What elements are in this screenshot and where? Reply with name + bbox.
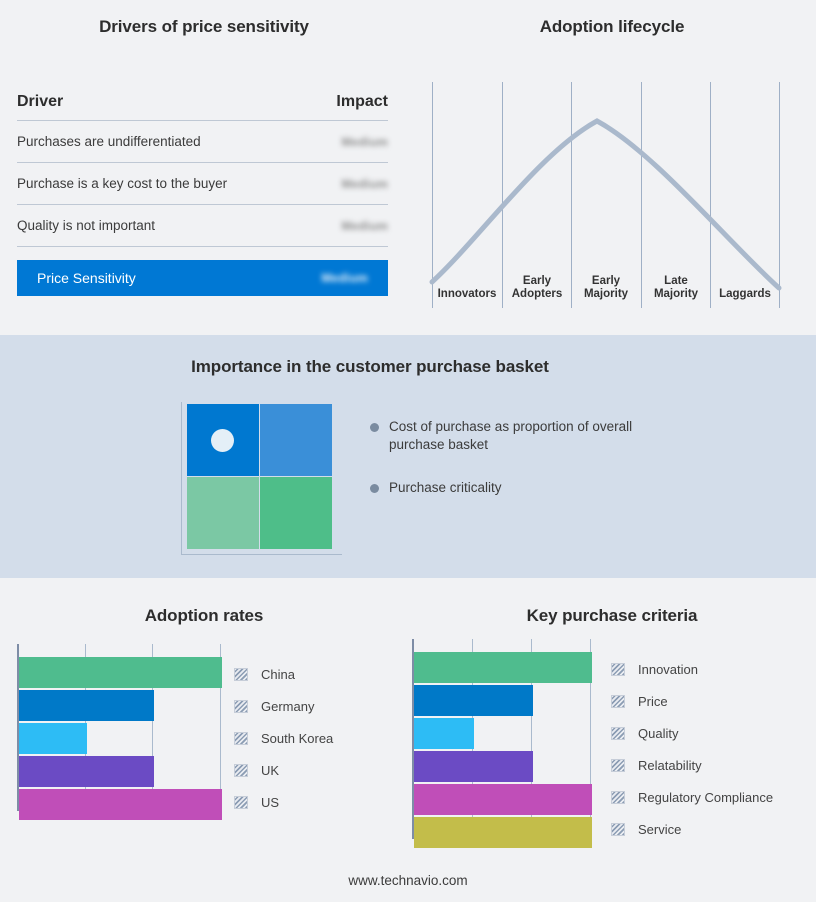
quadrant-y-axis [181,402,182,555]
legend-row: Quality [611,717,773,749]
legend-label: Regulatory Compliance [638,790,773,805]
hatch-swatch-icon [611,695,625,708]
basket-legend-item: Purchase criticality [370,479,502,497]
quadrant-bottom-right [260,477,332,549]
legend-bullet-icon [370,484,379,493]
bar-service [414,817,592,848]
summary-label: Price Sensitivity [37,270,136,286]
bar-china [19,657,222,688]
key-purchase-criteria-plot [412,639,592,839]
legend-label: Germany [261,699,314,714]
bar-regulatory-compliance [414,784,592,815]
hatch-swatch-icon [234,764,248,777]
key-purchase-criteria-title: Key purchase criteria [408,606,816,626]
legend-row: Innovation [611,653,773,685]
driver-label: Purchase is a key cost to the buyer [17,176,227,191]
quadrant-top-right [260,404,332,476]
table-row: Purchases are undifferentiated Medium [17,121,388,163]
drivers-table: Driver Impact Purchases are undifferenti… [17,93,388,296]
bar-relatability [414,751,533,782]
legend-label: China [261,667,295,682]
column-header-impact: Impact [336,93,388,111]
adoption-rates-plot [17,644,222,811]
bar-price [414,685,533,716]
segment-line-1: Late [641,275,711,288]
hatch-swatch-icon [611,823,625,836]
legend-label: Service [638,822,681,837]
impact-value: Medium [341,135,388,149]
table-header-row: Driver Impact [17,93,388,121]
bar-germany [19,690,154,721]
quadrant-chart [187,404,332,549]
legend-bullet-icon [370,423,379,432]
legend-label: US [261,795,279,810]
segment-line-2: Majority [571,288,641,301]
quadrant-top-left [187,404,259,476]
legend-label: UK [261,763,279,778]
segment-line-2: Innovators [432,288,502,301]
key-purchase-criteria-legend: Innovation Price Quality Relatability Re… [611,653,773,845]
table-row: Purchase is a key cost to the buyer Medi… [17,163,388,205]
legend-label: Price [638,694,668,709]
infographic-page: Drivers of price sensitivity Driver Impa… [0,0,816,902]
adoption-rates-legend: China Germany South Korea UK US [234,658,333,818]
segment-line-2: Adopters [502,288,572,301]
legend-row: US [234,786,333,818]
legend-label: Relatability [638,758,702,773]
hatch-swatch-icon [611,727,625,740]
bar-us [19,789,222,820]
drivers-panel-title: Drivers of price sensitivity [0,17,408,37]
hatch-swatch-icon [611,791,625,804]
segment-line-1: Early [502,275,572,288]
hatch-swatch-icon [611,663,625,676]
legend-label: Cost of purchase as proportion of overal… [389,418,659,454]
lifecycle-segment-early-adopters: Early Adopters [502,275,572,301]
legend-label: Purchase criticality [389,479,502,497]
price-sensitivity-summary-row: Price Sensitivity Medium [17,260,388,296]
legend-label: Innovation [638,662,698,677]
adoption-bell-curve [432,121,779,288]
legend-row: Regulatory Compliance [611,781,773,813]
adoption-rates-title: Adoption rates [0,606,408,626]
legend-row: UK [234,754,333,786]
legend-row: Relatability [611,749,773,781]
quadrant-bottom-left [187,477,259,549]
hatch-swatch-icon [234,668,248,681]
impact-value: Medium [341,219,388,233]
driver-label: Purchases are undifferentiated [17,134,201,149]
table-row: Quality is not important Medium [17,205,388,247]
quadrant-position-marker [211,429,234,452]
hatch-swatch-icon [234,732,248,745]
hatch-swatch-icon [611,759,625,772]
legend-label: South Korea [261,731,333,746]
adoption-rates-panel: Adoption rates China Germany Sout [0,578,408,902]
lifecycle-segment-late-majority: Late Majority [641,275,711,301]
key-purchase-criteria-panel: Key purchase criteria Innovation Price [408,578,816,902]
lifecycle-segment-innovators: Innovators [432,288,502,301]
bar-quality [414,718,474,749]
segment-line-2: Laggards [710,288,780,301]
hatch-swatch-icon [234,700,248,713]
driver-label: Quality is not important [17,218,155,233]
column-header-driver: Driver [17,93,63,111]
drivers-panel: Drivers of price sensitivity Driver Impa… [0,0,408,335]
segment-line-2: Majority [641,288,711,301]
summary-impact-value: Medium [321,271,368,285]
footer-url: www.technavio.com [0,873,816,888]
purchase-basket-panel: Importance in the customer purchase bask… [0,335,816,578]
legend-row: Germany [234,690,333,722]
hatch-swatch-icon [234,796,248,809]
basket-panel-title: Importance in the customer purchase bask… [0,357,740,377]
legend-row: Price [611,685,773,717]
legend-row: South Korea [234,722,333,754]
bar-south-korea [19,723,87,754]
impact-value: Medium [341,177,388,191]
lifecycle-segment-laggards: Laggards [710,288,780,301]
bar-innovation [414,652,592,683]
lifecycle-panel: Adoption lifecycle Innovators Early Adop… [408,0,816,335]
legend-label: Quality [638,726,678,741]
lifecycle-segment-early-majority: Early Majority [571,275,641,301]
bar-uk [19,756,154,787]
legend-row: China [234,658,333,690]
quadrant-x-axis [181,554,342,555]
basket-legend-item: Cost of purchase as proportion of overal… [370,418,659,454]
legend-row: Service [611,813,773,845]
segment-line-1: Early [571,275,641,288]
